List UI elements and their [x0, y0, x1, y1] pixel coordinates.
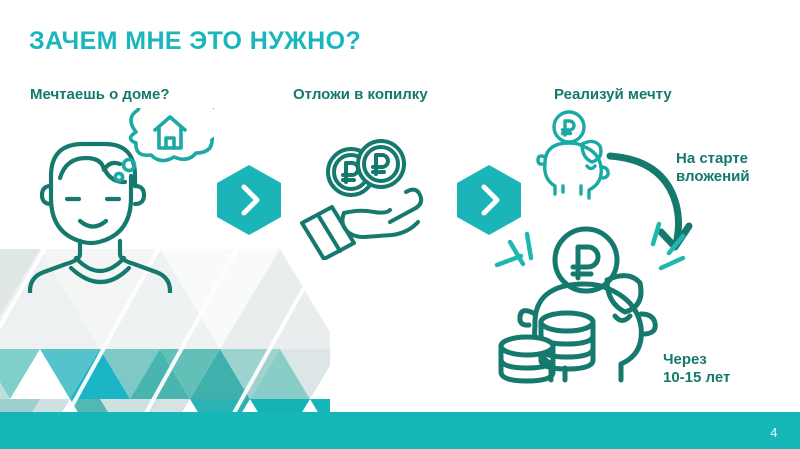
page-number: 4	[770, 425, 778, 440]
step-label-realize: Реализуй мечту	[554, 86, 672, 103]
house-icon	[155, 117, 185, 148]
person-thinking-house-icon	[14, 108, 214, 293]
piggy-bank-large-icon	[483, 218, 698, 398]
page-title: ЗАЧЕМ МНЕ ЭТО НУЖНО?	[29, 27, 361, 56]
step-label-save: Отложи в копилку	[293, 86, 428, 103]
slide-canvas: 4 ЗАЧЕМ МНЕ ЭТО НУЖНО? Мечтаешь о доме? …	[0, 0, 800, 449]
step-label-dream: Мечтаешь о доме?	[30, 86, 170, 103]
footer-bar	[0, 412, 800, 449]
chevron-right-hexagon-icon	[213, 162, 285, 238]
hand-with-ruble-coins-icon	[288, 130, 453, 260]
